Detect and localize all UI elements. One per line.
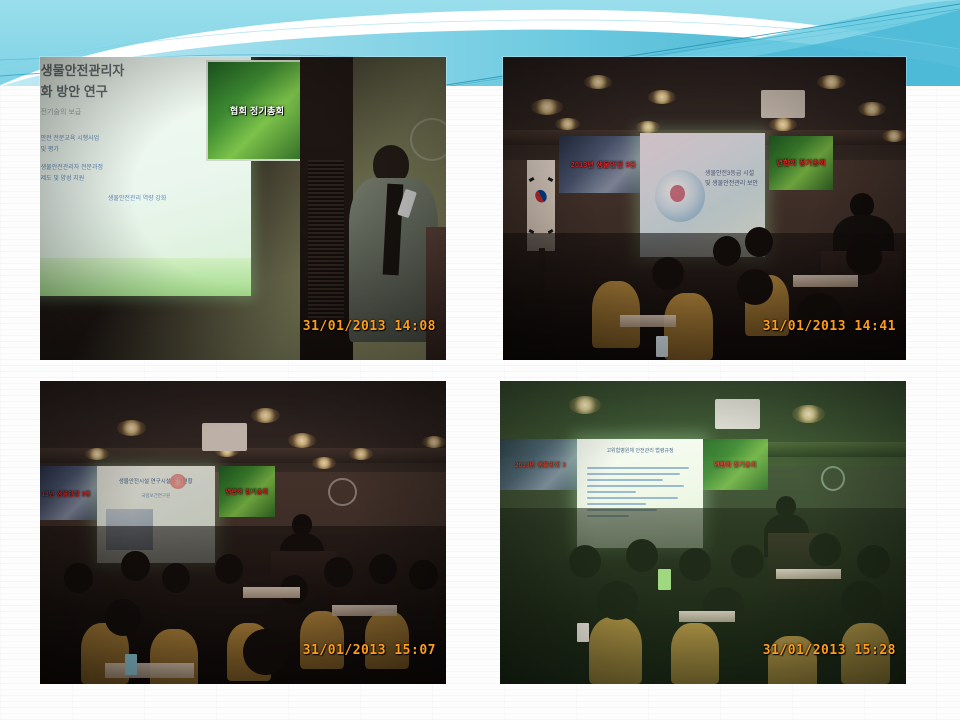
photo-timestamp: 31/01/2013 15:07 <box>303 643 436 658</box>
photo-vignette <box>500 381 906 684</box>
photo-timestamp: 31/01/2013 15:28 <box>763 643 896 658</box>
photo-grid: 생물안전관리자 화 방안 연구 전기술의 보급 안전 전문교육 시행사업 및 평… <box>0 0 960 720</box>
photo-vignette <box>503 57 906 360</box>
photo-top-right[interactable]: 2013년 생물안전 3등 생물안전3등급 시설 및 생물안전관리 보안 연합회… <box>503 57 906 360</box>
photo-vignette <box>40 57 446 360</box>
photo-timestamp: 31/01/2013 14:08 <box>303 319 436 334</box>
photo-bottom-right[interactable]: 2013년 생물안전 3 고위험병원체 안전관리 법령규정 연합회 정기총회 <box>500 381 906 684</box>
photo-top-left[interactable]: 생물안전관리자 화 방안 연구 전기술의 보급 안전 전문교육 시행사업 및 평… <box>40 57 446 360</box>
photo-bottom-left[interactable]: 13년 생물안전 3등 생물안전시설 연구시설 운영현황 국립보건연구원 연합회… <box>40 381 446 684</box>
presentation-slide: 생물안전관리자 화 방안 연구 전기술의 보급 안전 전문교육 시행사업 및 평… <box>0 0 960 720</box>
photo-vignette <box>40 381 446 684</box>
photo-timestamp: 31/01/2013 14:41 <box>763 319 896 334</box>
